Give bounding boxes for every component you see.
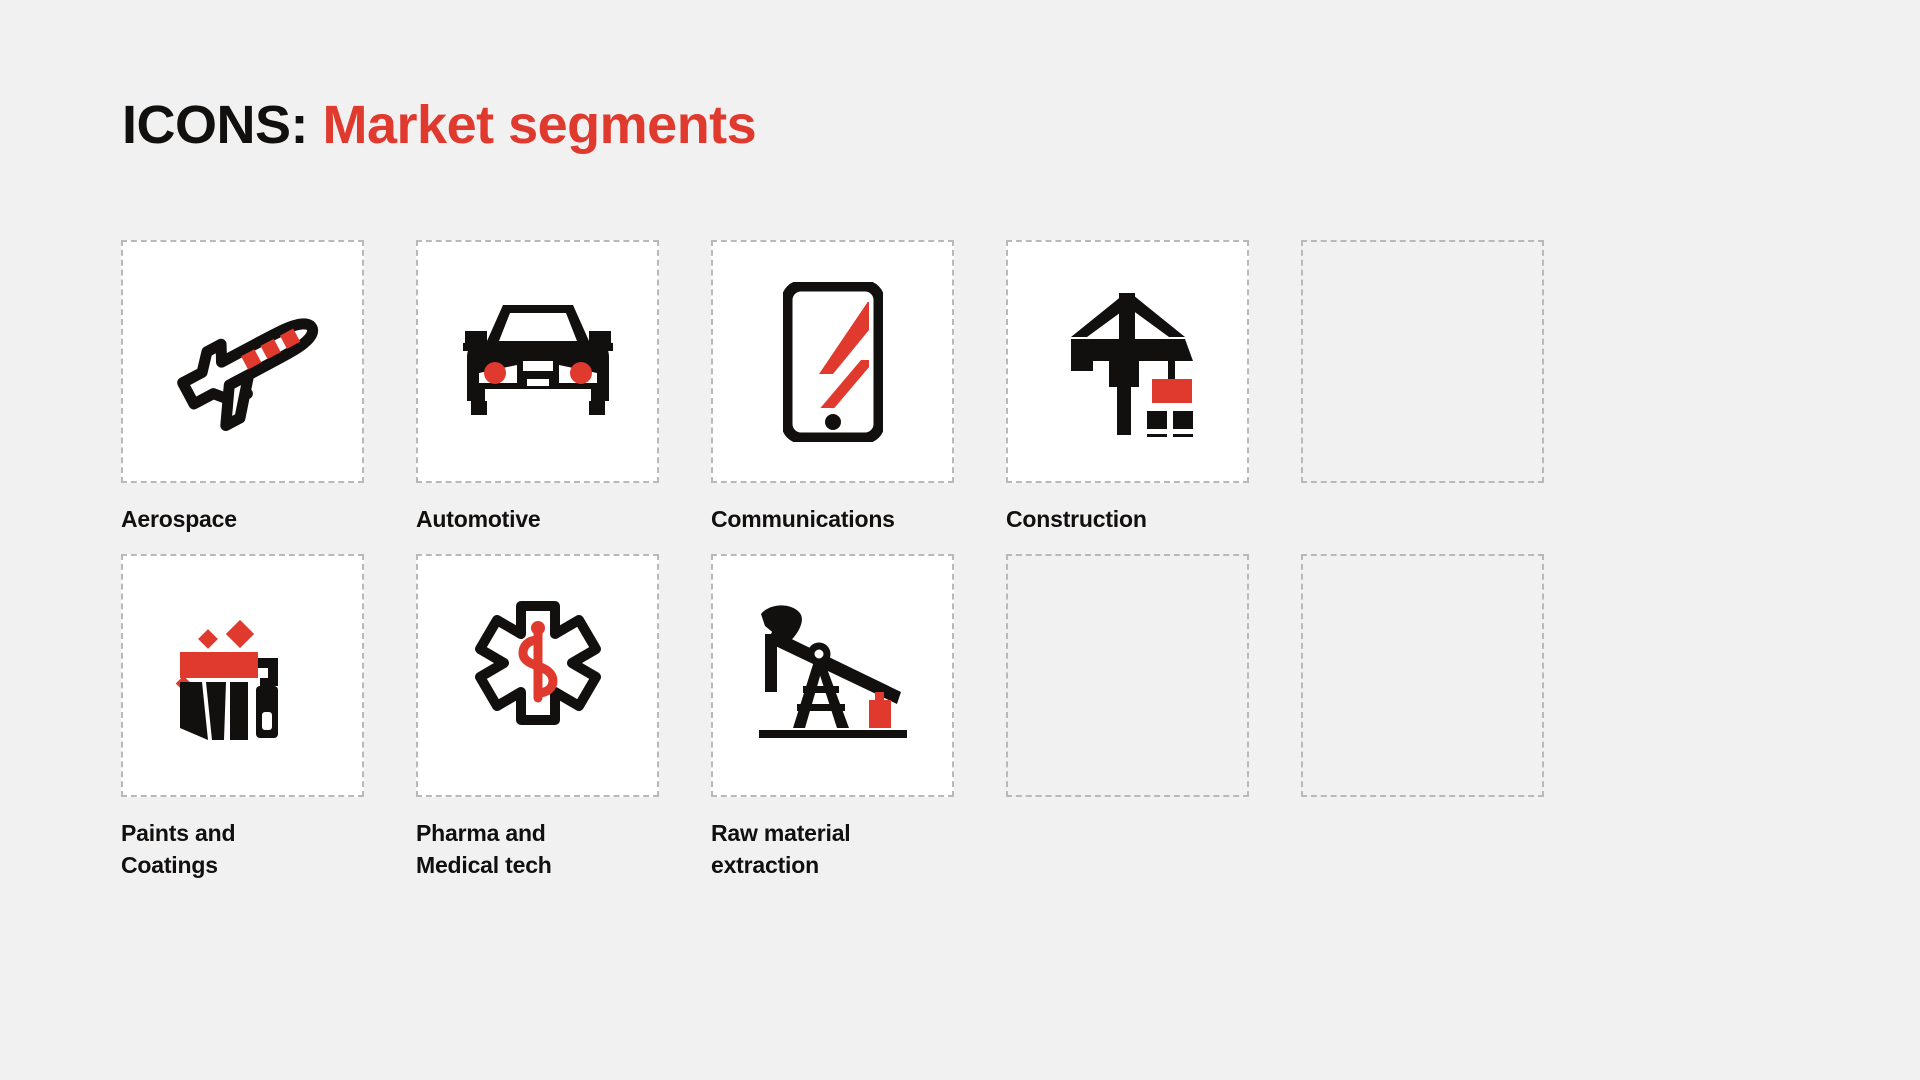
grid-cell-raw-material-extraction[interactable]: Raw material extraction (711, 554, 954, 882)
icon-tile-pharma-and-medical-tech[interactable] (416, 554, 659, 797)
grid-cell-empty-1[interactable] (1301, 240, 1544, 536)
page-title: ICONS: Market segments (122, 98, 756, 152)
icon-label: Construction (1006, 503, 1249, 536)
grid-cell-automotive[interactable]: Automotive (416, 240, 659, 536)
grid-cell-aerospace[interactable]: Aerospace (121, 240, 364, 536)
icon-tile-raw-material-extraction[interactable] (711, 554, 954, 797)
star-of-life-icon (463, 600, 613, 750)
icon-tile-construction[interactable] (1006, 240, 1249, 483)
grid-cell-empty-3[interactable] (1301, 554, 1544, 882)
grid-cell-paints-and-coatings[interactable]: Paints and Coatings (121, 554, 364, 882)
icon-tile-empty[interactable] (1301, 554, 1544, 797)
page-title-prefix: ICONS: (122, 95, 308, 155)
icon-tile-empty[interactable] (1301, 240, 1544, 483)
icon-label: Paints and Coatings (121, 817, 364, 882)
slide-canvas: ICONS: Market segments (0, 0, 1920, 1080)
icon-tile-aerospace[interactable] (121, 240, 364, 483)
car-front-icon (463, 297, 613, 427)
grid-cell-empty-2[interactable] (1006, 554, 1249, 882)
grid-cell-construction[interactable]: Construction (1006, 240, 1249, 536)
icon-grid: Aerospace (121, 240, 1544, 882)
icon-tile-communications[interactable] (711, 240, 954, 483)
icon-label: Pharma and Medical tech (416, 817, 659, 882)
paint-roller-icon (168, 600, 318, 750)
grid-cell-communications[interactable]: Communications (711, 240, 954, 536)
page-title-highlight: Market segments (323, 95, 757, 155)
icon-label: Automotive (416, 503, 659, 536)
tower-crane-icon (1053, 287, 1203, 437)
smartphone-icon (783, 282, 883, 442)
icon-tile-paints-and-coatings[interactable] (121, 554, 364, 797)
icon-label: Communications (711, 503, 954, 536)
icon-tile-automotive[interactable] (416, 240, 659, 483)
icon-label: Aerospace (121, 503, 364, 536)
grid-cell-pharma-and-medical-tech[interactable]: Pharma and Medical tech (416, 554, 659, 882)
oil-pumpjack-icon (753, 600, 913, 750)
airplane-icon (158, 292, 328, 432)
icon-tile-empty[interactable] (1006, 554, 1249, 797)
icon-label: Raw material extraction (711, 817, 954, 882)
